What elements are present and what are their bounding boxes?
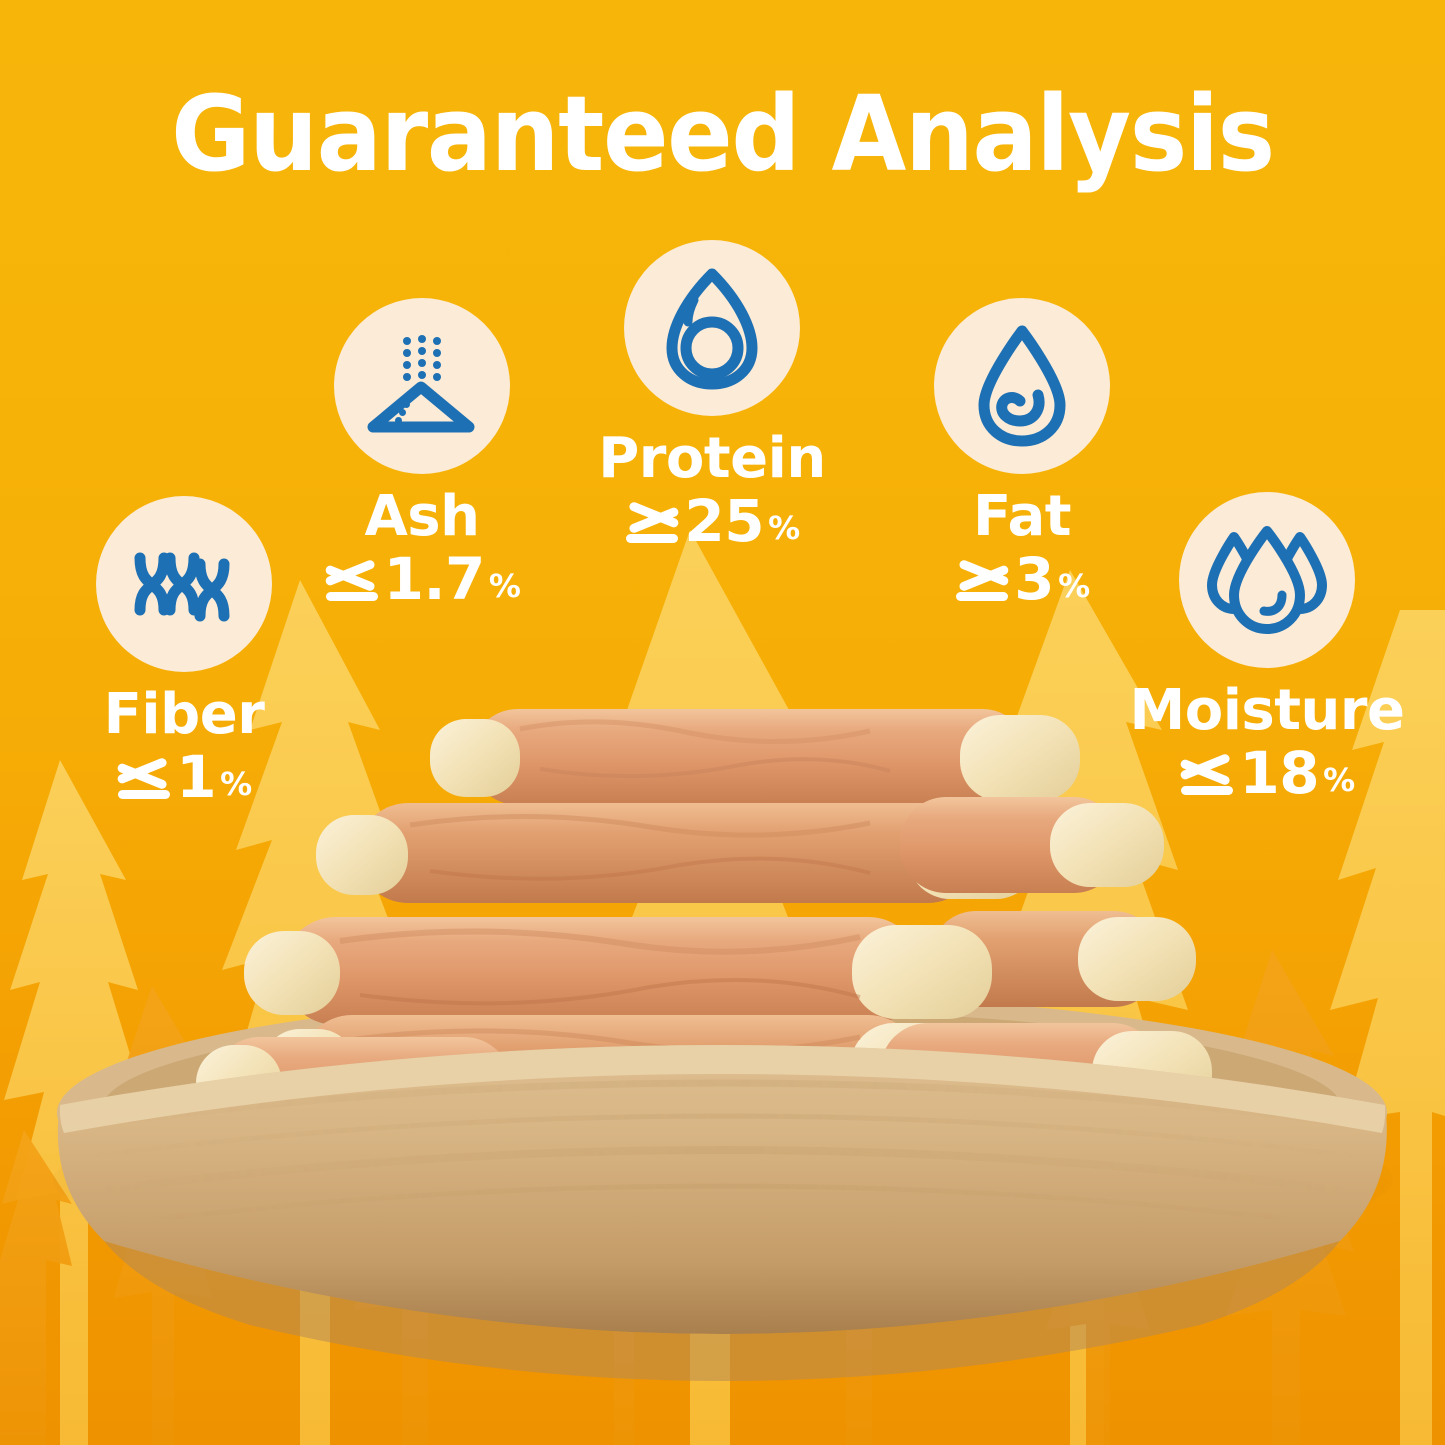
nutrient-badge-protein: Protein 25 % [562,240,862,552]
less-than-equal-icon [324,556,380,602]
plate-shadow [53,1095,1393,1265]
page-title: Guaranteed Analysis [51,82,1395,186]
nutrient-icon-disc-ash [334,298,510,474]
nutrient-icon-disc-protein [624,240,800,416]
ash-mound-icon [363,331,481,441]
greater-than-equal-icon [954,556,1010,602]
nutrient-value-fiber: 1 % [34,747,334,808]
nutrient-label-fiber: Fiber [34,686,334,743]
less-than-equal-icon [116,754,172,800]
dna-helix-icon [124,534,244,634]
treat-stick-right-1 [900,797,1164,893]
nutrient-number-ash: 1.7 [384,549,485,610]
nutrient-label-moisture: Moisture [1117,682,1417,739]
nutrient-value-moisture: 18 % [1117,743,1417,804]
greater-than-equal-icon [624,498,680,544]
nutrient-label-protein: Protein [562,430,862,487]
egg-icon [660,266,764,390]
nutrient-badge-ash: Ash 1.7 % [272,298,572,610]
nutrient-label-ash: Ash [272,488,572,545]
treat-stick-back-1 [430,709,1080,805]
nutrient-unit-fiber: % [220,768,252,802]
nutrient-badge-moisture: Moisture 18 % [1117,492,1417,804]
nutrient-unit-ash: % [489,570,521,604]
nutrient-unit-protein: % [768,512,800,546]
nutrient-number-protein: 25 [684,491,764,552]
treat-stick-back-2 [316,803,1038,903]
nutrient-value-protein: 25 % [562,491,862,552]
less-than-equal-icon [1179,750,1235,796]
nutrient-number-fat: 3 [1014,549,1054,610]
nutrient-icon-disc-fiber [96,496,272,672]
nutrient-unit-moisture: % [1323,764,1355,798]
nutrient-unit-fat: % [1058,570,1090,604]
nutrient-icon-disc-fat [934,298,1110,474]
nutrient-icon-disc-moisture [1179,492,1355,668]
water-droplets-icon [1204,523,1330,637]
treat-stick-right-2 [930,911,1196,1007]
nutrient-number-moisture: 18 [1239,743,1319,804]
guaranteed-analysis-poster: Guaranteed Analysis [0,0,1445,1445]
nutrient-value-ash: 1.7 % [272,549,572,610]
treat-stick-mid [244,917,992,1025]
nutrient-number-fiber: 1 [176,747,216,808]
oil-droplet-icon [972,323,1072,449]
